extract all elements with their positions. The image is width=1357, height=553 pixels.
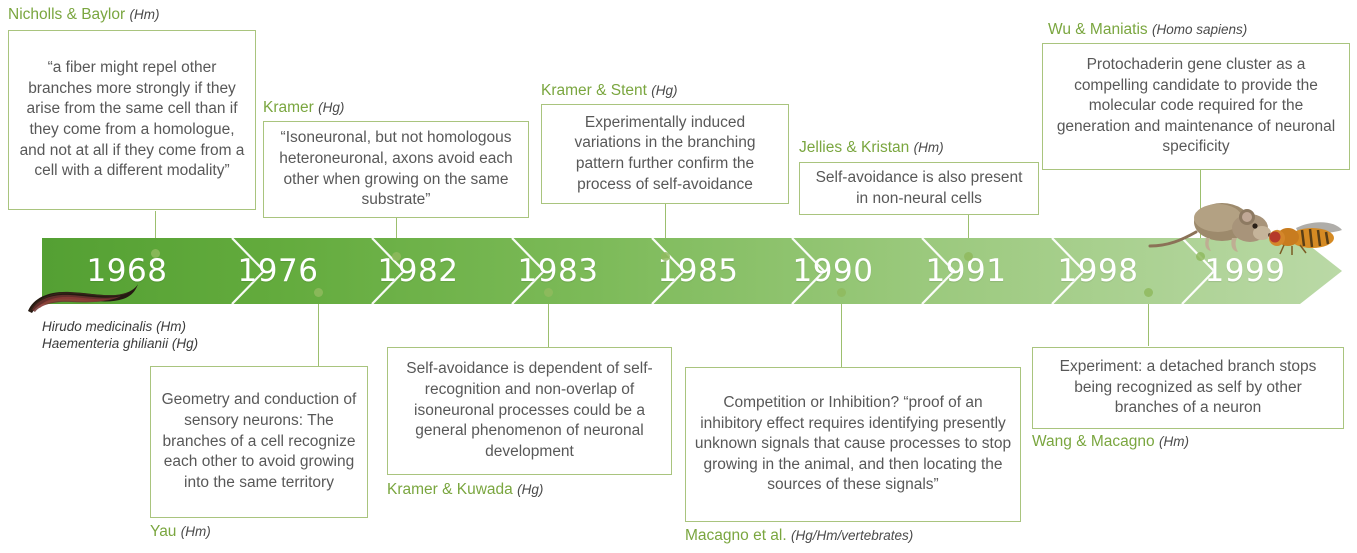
callout-macagno: Competition or Inhibition? “proof of an … xyxy=(685,367,1021,522)
connector-dot-1982 xyxy=(392,252,401,261)
citation-author: Jellies & Kristan xyxy=(799,139,909,156)
callout-kramer: “Isoneuronal, but not homologous heteron… xyxy=(263,121,529,218)
citation-species: (Hm) xyxy=(181,524,211,539)
citation-species: (Hm) xyxy=(1159,434,1189,449)
callout-text: “Isoneuronal, but not homologous heteron… xyxy=(272,128,520,210)
callout-nicholls-baylor: “a fiber might repel other branches more… xyxy=(8,30,256,210)
callout-text: Competition or Inhibition? “proof of an … xyxy=(694,393,1012,496)
fly-illustration xyxy=(1268,218,1346,258)
citation-species: (Hg) xyxy=(517,482,543,497)
citation-kramer-stent: Kramer & Stent (Hg) xyxy=(541,82,678,100)
species-name-haementeria: Haementeria ghilianii xyxy=(42,336,168,351)
citation-kramer-kuwada: Kramer & Kuwada (Hg) xyxy=(387,481,543,499)
citation-species: (Hm) xyxy=(914,140,944,155)
citation-species: (Hg/Hm/vertebrates) xyxy=(791,528,913,543)
callout-kramer-stent: Experimentally induced variations in the… xyxy=(541,104,789,204)
callout-kramer-kuwada: Self-avoidance is dependent of self-reco… xyxy=(387,347,672,475)
leech-illustration xyxy=(24,281,140,315)
citation-author: Kramer & Kuwada xyxy=(387,481,513,498)
citation-author: Kramer xyxy=(263,99,314,116)
citation-species: (Hg) xyxy=(651,83,677,98)
callout-yau: Geometry and conduction of sensory neuro… xyxy=(150,366,368,518)
species-name-hirudo: Hirudo medicinalis xyxy=(42,319,152,334)
connector-dot-1991 xyxy=(964,252,973,261)
callout-text: Geometry and conduction of sensory neuro… xyxy=(159,390,359,493)
species-abbrev-hirudo: (Hm) xyxy=(156,319,186,334)
connector-dot-1976 xyxy=(314,288,323,297)
mouse-illustration xyxy=(1148,194,1278,256)
citation-wu-maniatis: Wu & Maniatis (Homo sapiens) xyxy=(1048,21,1247,39)
citation-author: Wang & Macagno xyxy=(1032,433,1155,450)
species-abbrev-haementeria: (Hg) xyxy=(172,336,198,351)
connector-dot-1998 xyxy=(1144,288,1153,297)
citation-author: Yau xyxy=(150,523,176,540)
connector-dot-1983 xyxy=(544,288,553,297)
citation-macagno: Macagno et al. (Hg/Hm/vertebrates) xyxy=(685,527,913,545)
connector-dot-1985 xyxy=(661,252,670,261)
citation-jellies-kristan: Jellies & Kristan (Hm) xyxy=(799,139,944,157)
citation-species: (Homo sapiens) xyxy=(1152,22,1247,37)
timeline-diagram: 1968 1976 1982 1983 1985 1990 1991 1998 … xyxy=(0,0,1357,553)
citation-wang-macagno: Wang & Macagno (Hm) xyxy=(1032,433,1189,451)
callout-text: “a fiber might repel other branches more… xyxy=(17,58,247,182)
callout-text: Experiment: a detached branch stops bein… xyxy=(1041,357,1335,419)
species-caption-haementeria: Haementeria ghilianii (Hg) xyxy=(42,335,198,353)
citation-author: Macagno et al. xyxy=(685,527,787,544)
callout-wu-maniatis: Protochaderin gene cluster as a compelli… xyxy=(1042,43,1350,170)
callout-text: Experimentally induced variations in the… xyxy=(550,113,780,195)
callout-text: Self-avoidance is dependent of self-reco… xyxy=(396,359,663,462)
citation-author: Kramer & Stent xyxy=(541,82,647,99)
citation-species: (Hm) xyxy=(129,7,159,22)
callout-text: Self-avoidance is also present in non-ne… xyxy=(808,168,1030,209)
callout-wang-macagno: Experiment: a detached branch stops bein… xyxy=(1032,347,1344,429)
citation-author: Nicholls & Baylor xyxy=(8,6,125,23)
callout-jellies-kristan: Self-avoidance is also present in non-ne… xyxy=(799,162,1039,215)
citation-yau: Yau (Hm) xyxy=(150,523,211,541)
connector-dot-1968 xyxy=(151,249,160,258)
connector-dot-1990 xyxy=(837,288,846,297)
citation-nicholls-baylor: Nicholls & Baylor (Hm) xyxy=(8,6,159,24)
citation-kramer: Kramer (Hg) xyxy=(263,99,344,117)
citation-species: (Hg) xyxy=(318,100,344,115)
species-caption-hirudo: Hirudo medicinalis (Hm) xyxy=(42,318,186,336)
callout-text: Protochaderin gene cluster as a compelli… xyxy=(1051,55,1341,158)
citation-author: Wu & Maniatis xyxy=(1048,21,1148,38)
